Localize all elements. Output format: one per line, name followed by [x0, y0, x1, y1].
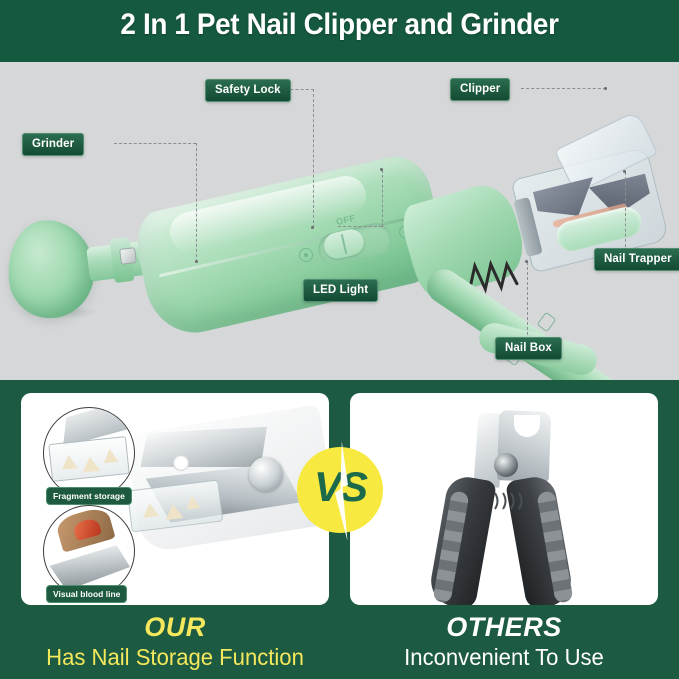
leader-dot-grinder: [195, 260, 198, 263]
other-clipper-screw: [494, 453, 518, 477]
other-clipper-spring-icon: [492, 489, 526, 513]
callout-clipper[interactable]: Clipper: [450, 78, 510, 101]
vs-badge: VS: [297, 447, 383, 533]
lower-handle-arm: [420, 263, 630, 380]
our-title: OUR: [21, 612, 329, 643]
others-caption: Inconvenient To Use: [356, 644, 652, 671]
callout-safety-lock[interactable]: Safety Lock: [205, 79, 291, 102]
others-product-panel: [350, 393, 658, 605]
leader-dot-safetylock: [311, 226, 314, 229]
inset-label-fragment-storage: Fragment storage: [46, 487, 132, 505]
leader-safetylock-v: [313, 89, 314, 228]
leader-grinder-h: [114, 143, 196, 144]
leader-ledlight-h: [338, 226, 382, 227]
product-infographic: 2 In 1 Pet Nail Clipper and Grinder OFF: [0, 0, 679, 679]
product-diagram: OFF Grinder Saf: [0, 62, 679, 380]
leader-dot-nailtrapper: [623, 170, 626, 173]
inset-tray: [48, 436, 130, 482]
grinder-bit: [119, 247, 137, 265]
our-clipper-hole: [173, 455, 189, 471]
others-title: OTHERS: [350, 612, 658, 643]
nail-box-icon-b: [537, 312, 557, 333]
callout-led-light[interactable]: LED Light: [303, 279, 378, 302]
callout-grinder[interactable]: Grinder: [22, 133, 84, 156]
leader-ledlight-v: [382, 170, 383, 227]
callout-nail-trapper[interactable]: Nail Trapper: [594, 248, 679, 271]
our-clipper-pivot: [249, 457, 283, 491]
inset-fragment-storage: [43, 407, 135, 499]
inset-visual-blood-line: [43, 505, 135, 597]
leader-clipper-h: [521, 88, 606, 89]
page-title: 2 In 1 Pet Nail Clipper and Grinder: [24, 8, 655, 42]
leader-dot-nailbox: [525, 260, 528, 263]
leader-nailbox-v: [527, 262, 528, 340]
leader-nailtrapper-v: [625, 172, 626, 247]
leader-grinder-v: [196, 143, 197, 262]
our-caption: Has Nail Storage Function: [12, 644, 338, 671]
header-banner: 2 In 1 Pet Nail Clipper and Grinder: [0, 0, 679, 62]
our-product-panel: Fragment storage Visual blood line: [21, 393, 329, 605]
callout-nail-box[interactable]: Nail Box: [495, 337, 562, 360]
leader-dot-ledlight: [380, 168, 383, 171]
leader-dot-clipper: [604, 87, 607, 90]
inset-label-visual-blood-line: Visual blood line: [46, 585, 127, 603]
